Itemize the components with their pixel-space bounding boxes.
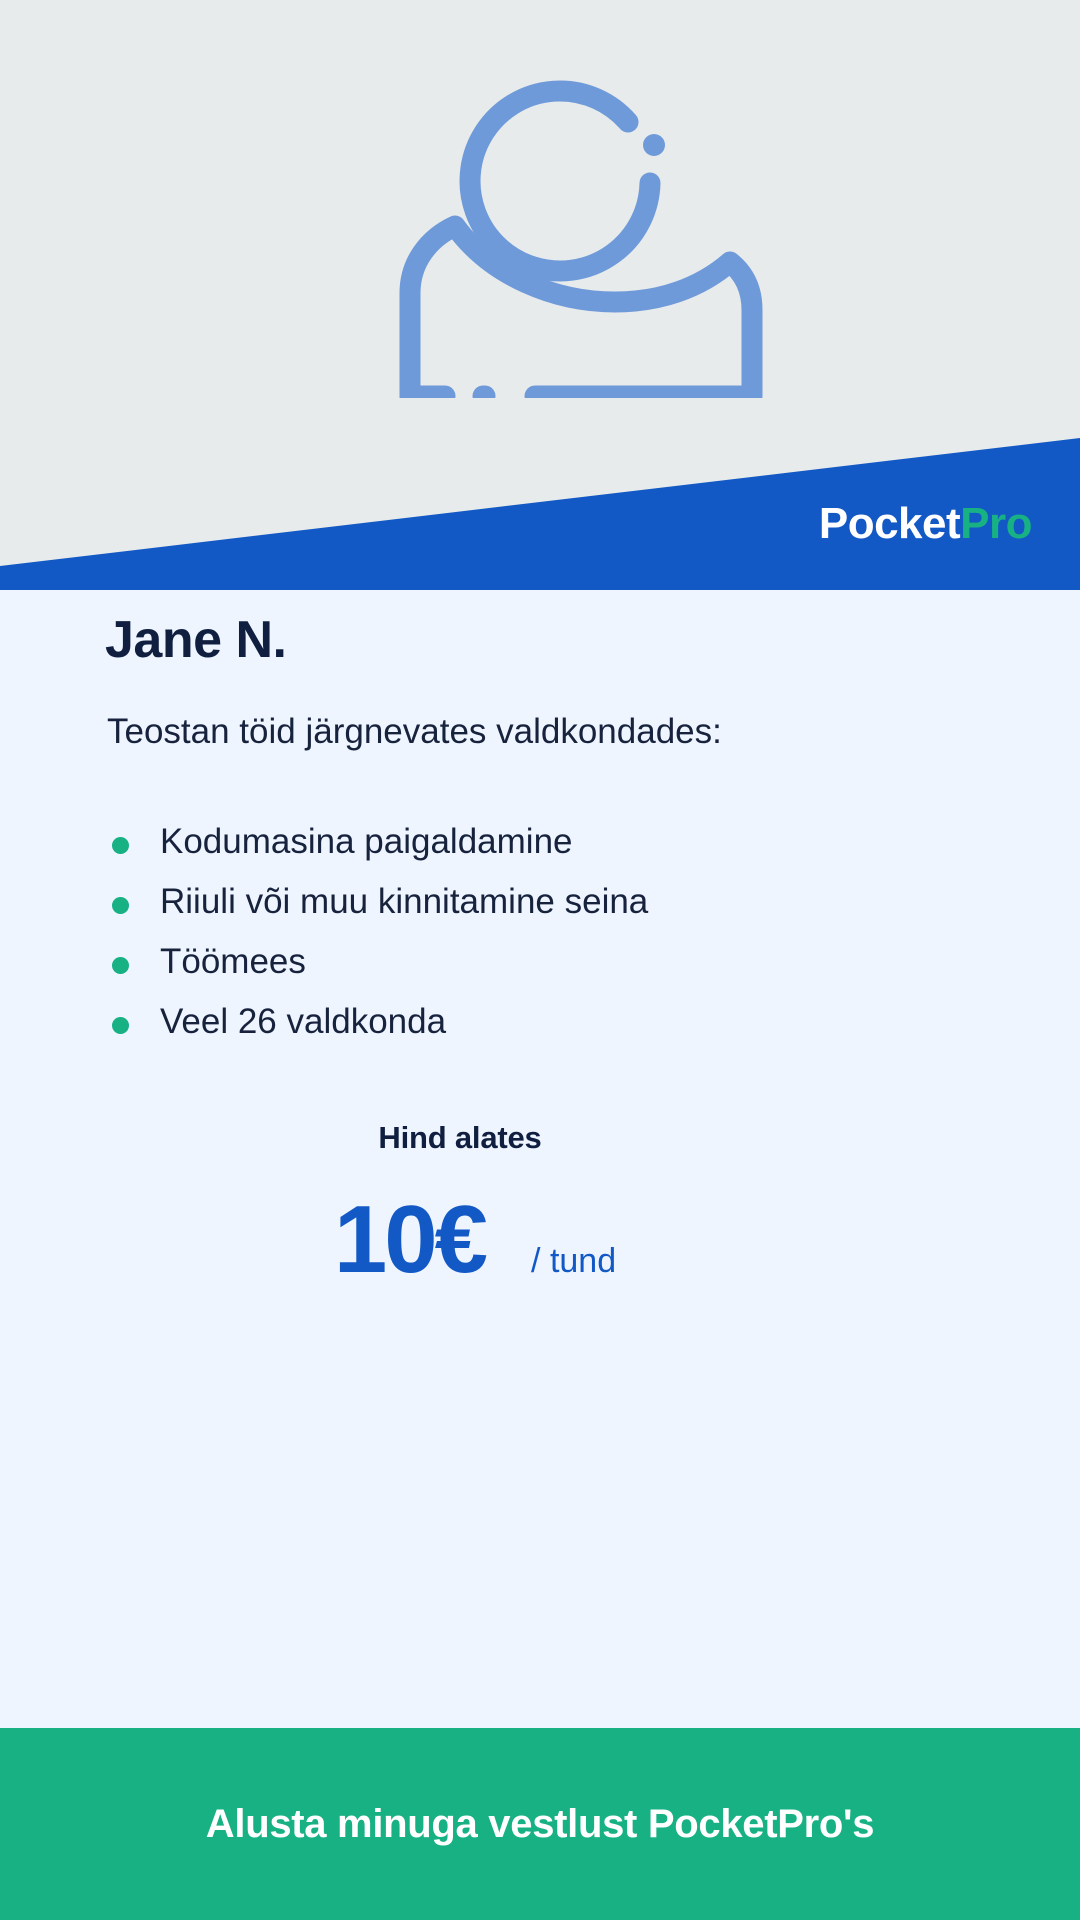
pocketpro-wordmark: PocketPro [819, 502, 1032, 546]
skill-label: Riiuli või muu kinnitamine seina [160, 882, 648, 921]
bullet-icon [112, 897, 129, 914]
page-title: Jane N. [105, 610, 286, 670]
start-chat-button[interactable]: Alusta minuga vestlust PocketPro's [0, 1728, 1080, 1920]
profile-details-section: Jane N. Teostan töid järgnevates valdkon… [0, 590, 1080, 1728]
bullet-icon [112, 957, 129, 974]
list-item: Riiuli või muu kinnitamine seina [107, 872, 907, 932]
brand-name-secondary: Pro [960, 499, 1032, 548]
price-label: Hind alates [0, 1120, 1080, 1156]
skill-label-more: Veel 26 valdkonda [160, 1002, 446, 1041]
professional-profile-card: PocketPro Jane N. Teostan töid järgnevat… [0, 0, 1080, 1920]
price-unit: / tund [531, 1242, 616, 1281]
start-chat-button-label: Alusta minuga vestlust PocketPro's [206, 1802, 874, 1847]
skill-label: Töömees [160, 942, 306, 981]
list-item: Kodumasina paigaldamine [107, 812, 907, 872]
hero-section: PocketPro [0, 0, 1080, 590]
skill-list: Kodumasina paigaldamine Riiuli või muu k… [107, 812, 907, 1052]
bullet-icon [112, 1017, 129, 1034]
list-item: Töömees [107, 932, 907, 992]
bullet-icon [112, 837, 129, 854]
list-item[interactable]: Veel 26 valdkonda [107, 992, 907, 1052]
price-row: 10€ / tund [0, 1192, 1080, 1288]
brand-name-primary: Pocket [819, 499, 960, 548]
skill-label: Kodumasina paigaldamine [160, 822, 573, 861]
profile-subtitle: Teostan töid järgnevates valdkondades: [107, 712, 722, 752]
price-block: Hind alates 10€ / tund [0, 1120, 1080, 1288]
price-amount: 10€ [334, 1192, 485, 1288]
